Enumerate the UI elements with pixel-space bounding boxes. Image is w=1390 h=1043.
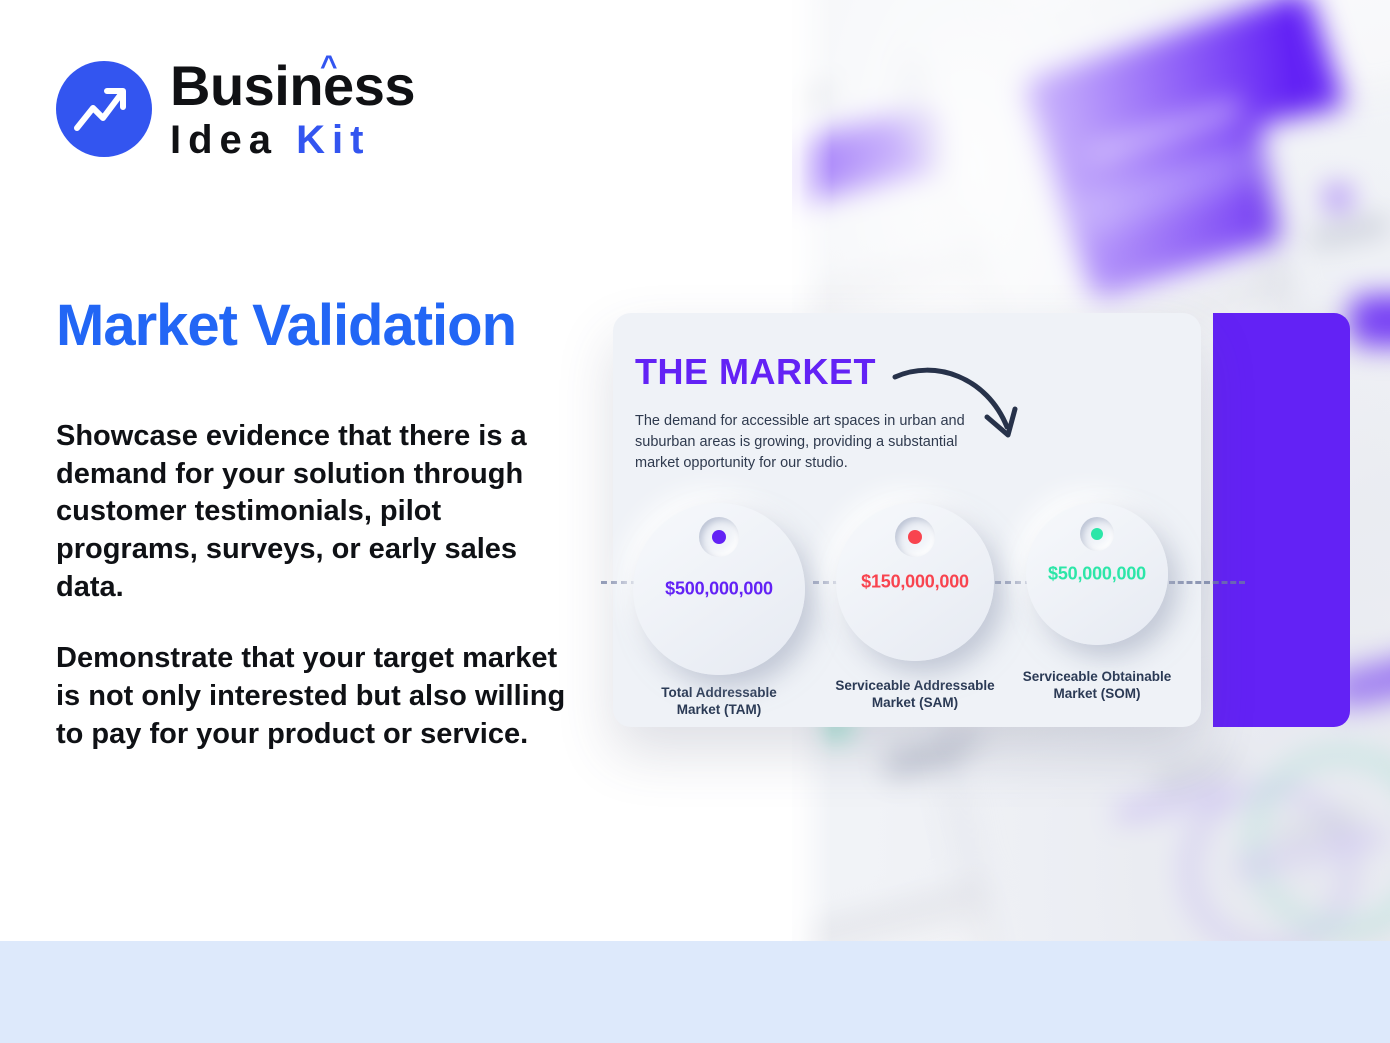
mockup-dot-purple bbox=[1325, 185, 1351, 211]
sam-label-line2: Market (SAM) bbox=[872, 695, 958, 710]
som-value: $50,000,000 bbox=[1026, 564, 1168, 585]
som-label: Serviceable Obtainable Market (SOM) bbox=[1005, 669, 1189, 703]
slide-canvas: Business ^ Idea Kit Market Validation Sh… bbox=[0, 0, 1390, 1043]
brand-line-business: Business ^ bbox=[170, 58, 415, 114]
page-title: Market Validation bbox=[56, 296, 516, 357]
brand-word-kit: Kit bbox=[296, 118, 370, 162]
tam-label: Total Addressable Market (TAM) bbox=[627, 685, 811, 719]
tam-label-line2: Market (TAM) bbox=[677, 702, 762, 717]
mockup-purple-bar-right bbox=[1350, 295, 1390, 347]
brand-line-ideakit: Idea Kit bbox=[170, 120, 415, 160]
circumflex-accent-icon: ^ bbox=[320, 52, 337, 82]
som-dot-icon bbox=[1091, 528, 1103, 540]
sam-dot-icon bbox=[908, 530, 922, 544]
market-segment-sam: $150,000,000 Serviceable Addressable Mar… bbox=[823, 503, 1007, 712]
brand-logo: Business ^ Idea Kit bbox=[56, 58, 415, 160]
body-paragraph-1: Showcase evidence that there is a demand… bbox=[56, 418, 576, 606]
tam-dot-icon bbox=[712, 530, 726, 544]
som-label-line2: Market (SOM) bbox=[1053, 686, 1140, 701]
sam-label-line1: Serviceable Addressable bbox=[835, 678, 994, 693]
purple-side-block bbox=[1213, 313, 1350, 727]
body-paragraph-2: Demonstrate that your target market is n… bbox=[56, 640, 576, 753]
sam-orb: $150,000,000 bbox=[836, 503, 994, 661]
market-card-title: THE MARKET bbox=[635, 351, 876, 393]
bottom-accent-strip bbox=[0, 941, 1390, 1043]
market-card: THE MARKET The demand for accessible art… bbox=[613, 313, 1201, 727]
growth-arrow-icon bbox=[56, 61, 152, 157]
tam-knob bbox=[699, 517, 739, 557]
body-copy: Showcase evidence that there is a demand… bbox=[56, 418, 576, 754]
sam-value: $150,000,000 bbox=[836, 572, 994, 593]
sam-label: Serviceable Addressable Market (SAM) bbox=[823, 678, 1007, 712]
tam-label-line1: Total Addressable bbox=[661, 685, 777, 700]
brand-wordmark: Business ^ Idea Kit bbox=[170, 58, 415, 160]
som-knob bbox=[1080, 517, 1114, 551]
som-label-line1: Serviceable Obtainable bbox=[1023, 669, 1172, 684]
sam-knob bbox=[895, 517, 935, 557]
brand-line-business-text: Business bbox=[170, 54, 415, 117]
som-orb: $50,000,000 bbox=[1026, 503, 1168, 645]
market-size-chart: $500,000,000 Total Addressable Market (T… bbox=[613, 503, 1201, 713]
brand-word-idea: Idea bbox=[170, 118, 278, 162]
tam-value: $500,000,000 bbox=[633, 579, 805, 600]
curved-arrow-down-right-icon bbox=[891, 355, 1031, 455]
tam-orb: $500,000,000 bbox=[633, 503, 805, 675]
market-segment-tam: $500,000,000 Total Addressable Market (T… bbox=[627, 503, 811, 719]
market-segment-som: $50,000,000 Serviceable Obtainable Marke… bbox=[1005, 503, 1189, 703]
